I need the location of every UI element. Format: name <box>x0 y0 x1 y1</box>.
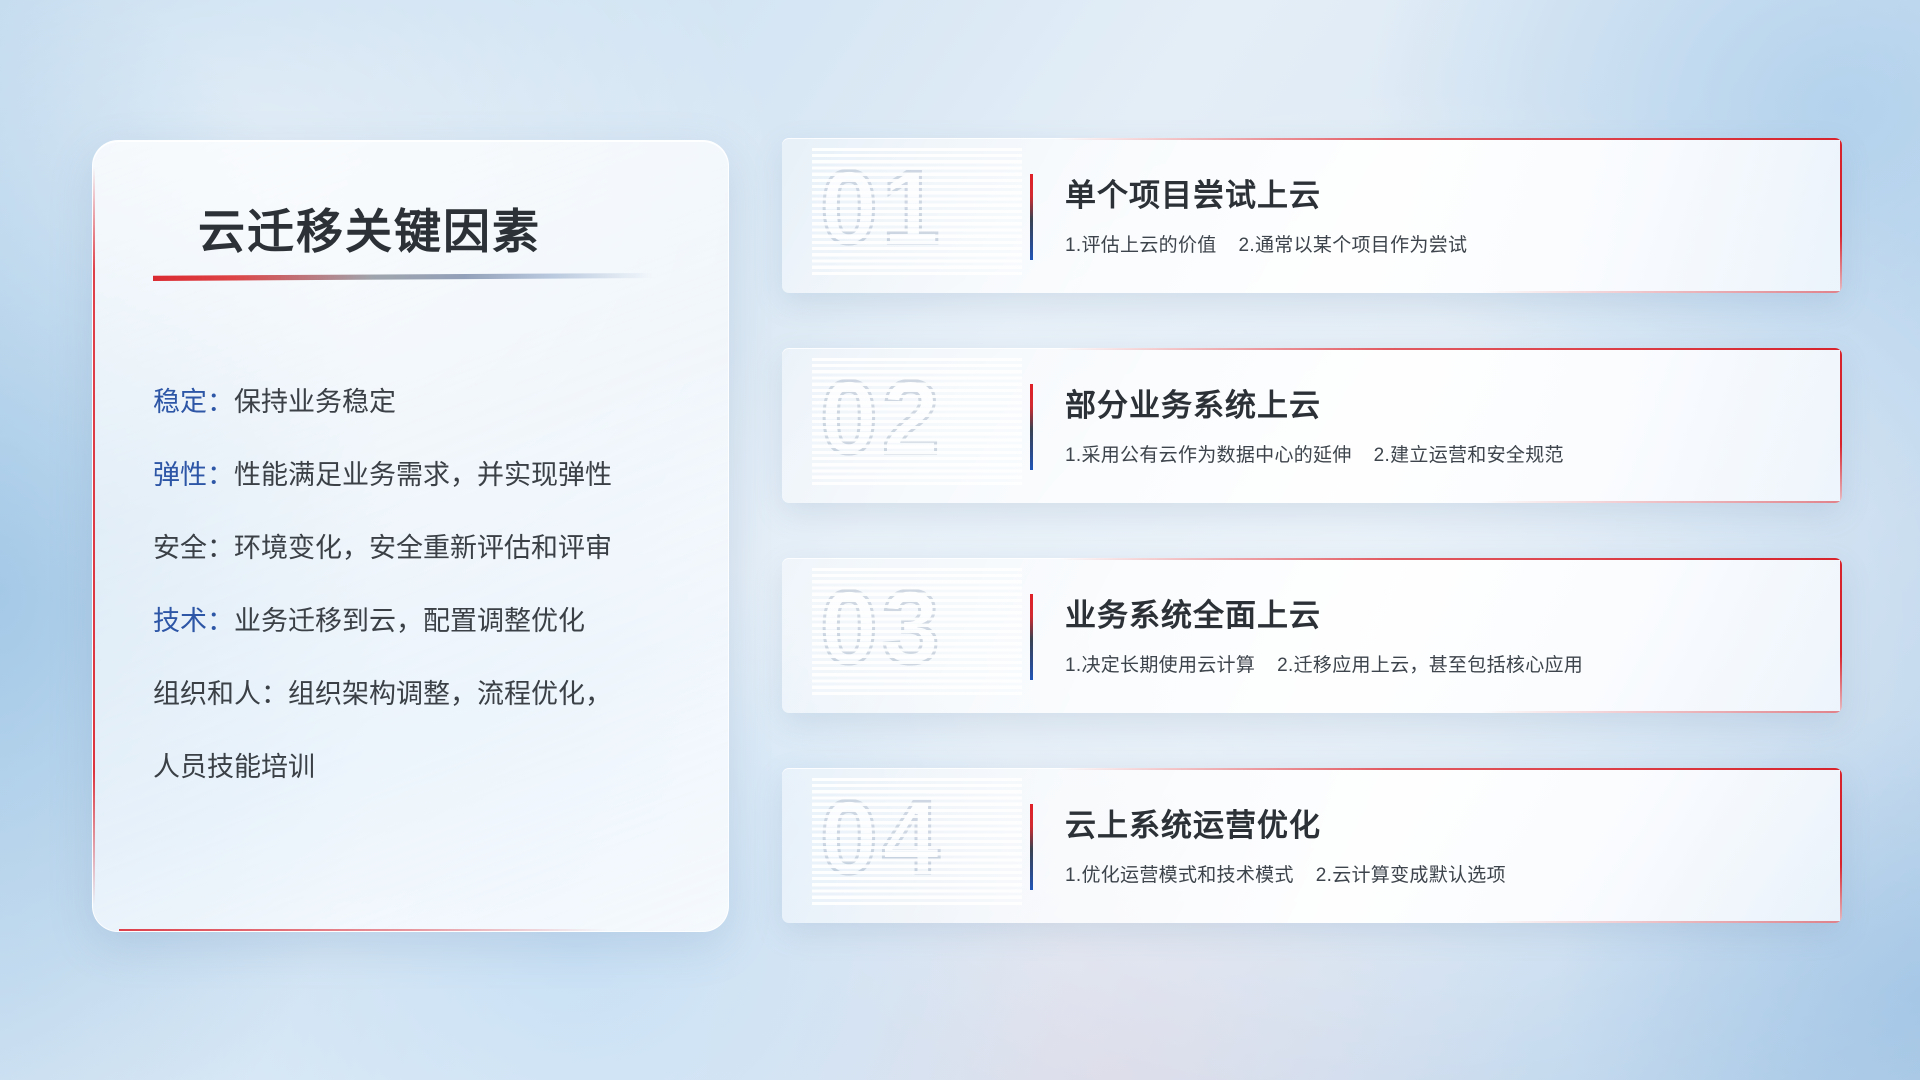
card-top-accent <box>1058 558 1842 560</box>
stage-card[interactable]: 04 云上系统运营优化 1.优化运营模式和技术模式2.云计算变成默认选项 <box>782 768 1842 923</box>
card-description: 1.采用公有云作为数据中心的延伸2.建立运营和安全规范 <box>1065 440 1564 467</box>
card-description: 1.决定长期使用云计算2.迁移应用上云，甚至包括核心应用 <box>1065 650 1583 677</box>
page-title: 云迁移关键因素 <box>198 193 541 262</box>
card-bottom-accent <box>1482 291 1842 293</box>
card-point-1: 1.决定长期使用云计算 <box>1065 655 1255 676</box>
fact-value: 性能满足业务需求，并实现弹性 <box>234 460 612 490</box>
panel-left-accent <box>93 167 95 905</box>
card-point-2: 2.迁移应用上云，甚至包括核心应用 <box>1277 655 1583 676</box>
key-factors-list: 稳定：保持业务稳定 弹性：性能满足业务需求，并实现弹性 安全：环境变化，安全重新… <box>153 389 688 827</box>
stage-number: 04 <box>820 786 944 890</box>
fact-label: 稳定： <box>153 387 234 417</box>
card-heading: 部分业务系统上云 <box>1065 380 1321 425</box>
card-heading: 业务系统全面上云 <box>1065 590 1321 635</box>
card-divider <box>1030 594 1033 680</box>
card-bottom-accent <box>1482 921 1842 923</box>
card-point-1: 1.优化运营模式和技术模式 <box>1065 865 1294 886</box>
stage-card[interactable]: 01 单个项目尝试上云 1.评估上云的价值2.通常以某个项目作为尝试 <box>782 138 1842 293</box>
card-top-accent <box>1058 768 1842 770</box>
stage-card[interactable]: 02 部分业务系统上云 1.采用公有云作为数据中心的延伸2.建立运营和安全规范 <box>782 348 1842 503</box>
fact-label: 组织和人： <box>153 679 288 709</box>
card-top-accent <box>1058 348 1842 350</box>
card-top-accent <box>1058 138 1842 140</box>
stage-number: 03 <box>820 576 944 680</box>
card-heading: 云上系统运营优化 <box>1065 800 1321 845</box>
card-heading: 单个项目尝试上云 <box>1065 170 1321 215</box>
list-item: 技术：业务迁移到云，配置调整优化 <box>153 608 688 635</box>
card-point-1: 1.评估上云的价值 <box>1065 235 1217 256</box>
fact-value: 业务迁移到云，配置调整优化 <box>234 606 585 636</box>
stage-card[interactable]: 03 业务系统全面上云 1.决定长期使用云计算2.迁移应用上云，甚至包括核心应用 <box>782 558 1842 713</box>
card-right-accent <box>1840 348 1842 503</box>
card-point-2: 2.建立运营和安全规范 <box>1374 445 1564 466</box>
card-right-accent <box>1840 558 1842 713</box>
fact-value: 保持业务稳定 <box>234 387 396 417</box>
card-bottom-accent <box>1482 711 1842 713</box>
fact-label: 弹性： <box>153 460 234 490</box>
panel-bottom-accent <box>119 929 608 931</box>
list-item: 人员技能培训 <box>153 754 688 781</box>
slide-stage: 云迁移关键因素 稳定：保持业务稳定 弹性：性能满足业务需求，并实现弹性 安全：环… <box>0 0 1920 1080</box>
card-description: 1.评估上云的价值2.通常以某个项目作为尝试 <box>1065 230 1467 257</box>
card-right-accent <box>1840 768 1842 923</box>
fact-value: 环境变化，安全重新评估和评审 <box>234 533 612 563</box>
card-bottom-accent <box>1482 501 1842 503</box>
stages-card-list: 01 单个项目尝试上云 1.评估上云的价值2.通常以某个项目作为尝试 02 部分… <box>782 138 1842 978</box>
fact-label: 安全： <box>153 533 234 563</box>
card-right-accent <box>1840 138 1842 293</box>
fact-label: 技术： <box>153 606 234 636</box>
list-item: 弹性：性能满足业务需求，并实现弹性 <box>153 462 688 489</box>
card-point-2: 2.通常以某个项目作为尝试 <box>1239 235 1468 256</box>
card-divider <box>1030 804 1033 890</box>
fact-value: 人员技能培训 <box>153 752 315 782</box>
list-item: 组织和人：组织架构调整，流程优化， <box>153 681 688 708</box>
key-factors-panel: 云迁移关键因素 稳定：保持业务稳定 弹性：性能满足业务需求，并实现弹性 安全：环… <box>92 140 729 932</box>
card-description: 1.优化运营模式和技术模式2.云计算变成默认选项 <box>1065 860 1506 887</box>
card-point-2: 2.云计算变成默认选项 <box>1316 865 1506 886</box>
card-point-1: 1.采用公有云作为数据中心的延伸 <box>1065 445 1352 466</box>
fact-value: 组织架构调整，流程优化， <box>288 679 612 709</box>
card-divider <box>1030 384 1033 470</box>
title-underline-rule <box>153 273 653 281</box>
list-item: 稳定：保持业务稳定 <box>153 389 688 416</box>
stage-number: 02 <box>820 366 944 470</box>
stage-number: 01 <box>820 156 944 260</box>
card-divider <box>1030 174 1033 260</box>
list-item: 安全：环境变化，安全重新评估和评审 <box>153 535 688 562</box>
